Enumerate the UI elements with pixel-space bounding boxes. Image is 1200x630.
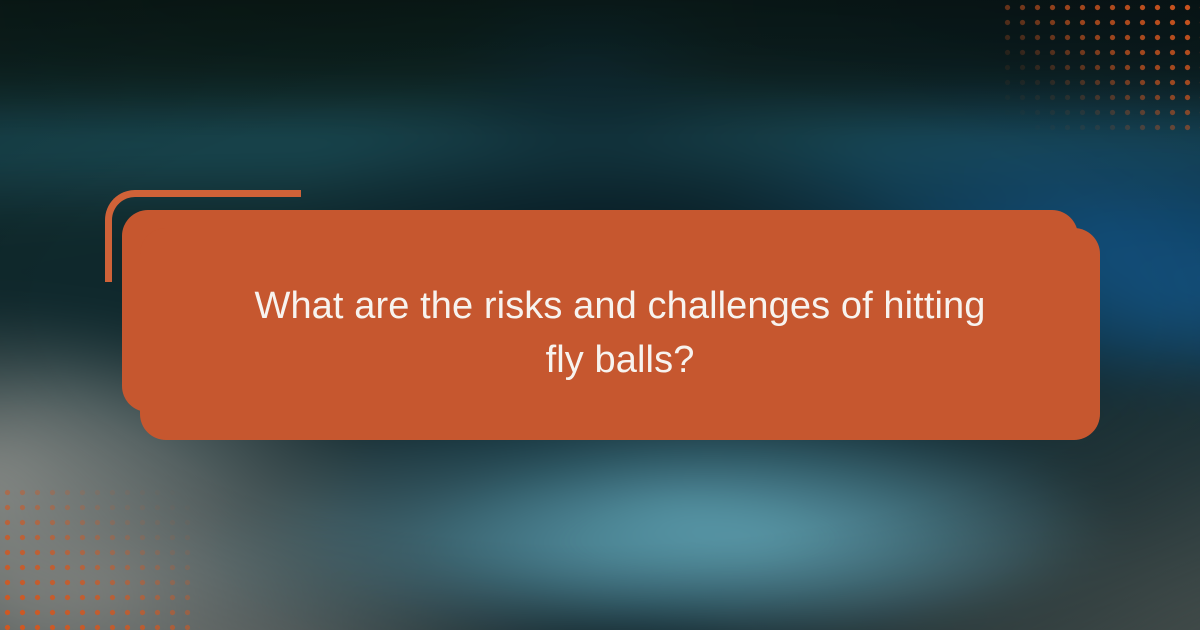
social-card-canvas: What are the risks and challenges of hit… <box>0 0 1200 630</box>
page-title: What are the risks and challenges of hit… <box>240 280 1000 388</box>
headline-container: What are the risks and challenges of hit… <box>140 228 1100 440</box>
